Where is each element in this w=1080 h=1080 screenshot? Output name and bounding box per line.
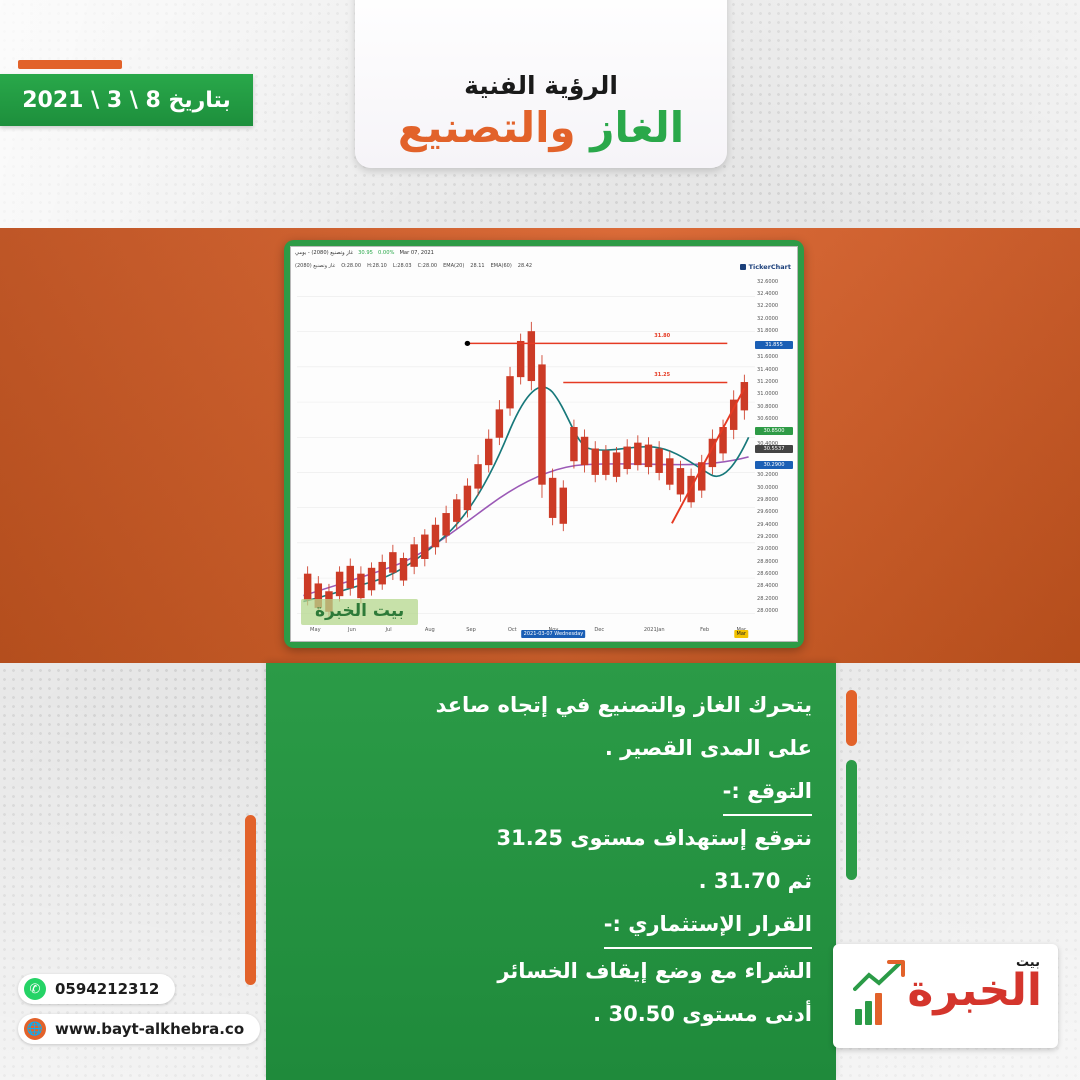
analysis-line-5: الشراء مع وضع إيقاف الخسائر bbox=[290, 951, 812, 992]
decor-bar-orange-left bbox=[245, 815, 256, 985]
chart-ema20-value: 28.11 bbox=[470, 263, 484, 269]
logo-wrap: بيت الخبرة bbox=[843, 953, 1048, 1039]
tickerchart-label: TickerChart bbox=[749, 263, 791, 271]
header-subtitle: الرؤية الفنية bbox=[464, 71, 618, 100]
analysis-line-6: أدنى مستوى 30.50 . bbox=[290, 994, 812, 1035]
y-tick: 32.6000 bbox=[757, 279, 778, 285]
analysis-label-decision: القرار الإستثماري :- bbox=[604, 904, 812, 949]
analysis-line-3: نتوقع إستهداف مستوى 31.25 bbox=[290, 818, 812, 859]
resistance-label-2: 31.25 bbox=[654, 372, 670, 378]
contact-block: ✆ 0594212312 🌐 www.bayt-alkhebra.co bbox=[18, 974, 260, 1044]
chart-change-pct: 0.00% bbox=[378, 250, 394, 256]
x-current-tag: Mar bbox=[735, 630, 748, 638]
chart-last-price: 30.95 bbox=[358, 250, 373, 256]
analysis-text: يتحرك الغاز والتصنيع في إتجاه صاعد على ا… bbox=[290, 685, 812, 1037]
decor-bar-green-right bbox=[846, 760, 857, 880]
y-tick: 29.4000 bbox=[757, 522, 778, 528]
x-tick: Feb bbox=[700, 627, 709, 633]
y-tick: 31.2000 bbox=[757, 379, 778, 385]
x-tick: Oct bbox=[508, 627, 517, 633]
analysis-line-2: على المدى القصير . bbox=[290, 728, 812, 769]
whatsapp-pill[interactable]: ✆ 0594212312 bbox=[18, 974, 175, 1004]
header-title: الغاز والتصنيع bbox=[398, 106, 684, 150]
y-tick: 29.0000 bbox=[757, 546, 778, 552]
website-url: www.bayt-alkhebra.co bbox=[55, 1020, 244, 1038]
poster-root: بتاريخ 8 \ 3 \ 2021 الرؤية الفنية الغاز … bbox=[0, 0, 1080, 1080]
chart-ema60-label: EMA(60) bbox=[491, 263, 512, 269]
website-pill[interactable]: 🌐 www.bayt-alkhebra.co bbox=[18, 1014, 260, 1044]
analysis-label-expectation: التوقع :- bbox=[723, 771, 812, 816]
chart-ema20-label: EMA(20) bbox=[443, 263, 464, 269]
x-tick: May bbox=[310, 627, 321, 633]
analysis-line-1: يتحرك الغاز والتصنيع في إتجاه صاعد bbox=[290, 685, 812, 726]
chart-header-line-2: غاز وتصنيع (2080) O:28.00 H:28.10 L:28.0… bbox=[291, 260, 797, 271]
x-tick: Jul bbox=[386, 627, 392, 633]
bar-chart-icon bbox=[855, 993, 882, 1025]
date-badge: بتاريخ 8 \ 3 \ 2021 bbox=[0, 74, 253, 126]
candlestick-svg bbox=[297, 273, 755, 625]
growth-arrow-icon bbox=[853, 959, 907, 993]
chart-plot-area: 31.80 31.25 bbox=[297, 273, 755, 625]
whatsapp-icon: ✆ bbox=[24, 978, 46, 1000]
y-tick: 30.2000 bbox=[757, 472, 778, 478]
chart-frame: غاز وتصنيع (2080) - يومي 30.95 0.00% Mar… bbox=[284, 240, 804, 648]
logo-main-word: الخبرة bbox=[907, 969, 1042, 1013]
header-card: الرؤية الفنية الغاز والتصنيع bbox=[355, 0, 727, 168]
analysis-line-4: ثم 31.70 . bbox=[290, 861, 812, 902]
chart-low: L:28.03 bbox=[393, 263, 412, 269]
y-tick: 28.2000 bbox=[757, 596, 778, 602]
y-tick: 30.8000 bbox=[757, 404, 778, 410]
chart-open: O:28.00 bbox=[341, 263, 361, 269]
chart-x-axis: May Jun Jul Aug Sep Oct Nov Dec 2021Jan … bbox=[297, 627, 755, 639]
chart-ema60-value: 28.42 bbox=[518, 263, 532, 269]
resistance-label-1: 31.80 bbox=[654, 333, 670, 339]
y-price-box-support: 30.2900 bbox=[755, 461, 793, 469]
x-tick: Aug bbox=[425, 627, 435, 633]
y-price-box-ema: 30.5537 bbox=[755, 445, 793, 453]
decor-bar-orange-right bbox=[846, 690, 857, 746]
y-tick: 28.0000 bbox=[757, 608, 778, 614]
x-tick: Jun bbox=[348, 627, 356, 633]
globe-icon: 🌐 bbox=[24, 1018, 46, 1040]
trendline-up bbox=[672, 388, 744, 523]
y-tick: 31.8000 bbox=[757, 328, 778, 334]
y-tick: 28.8000 bbox=[757, 559, 778, 565]
header-title-green: الغاز bbox=[590, 103, 684, 152]
x-tick: Dec bbox=[594, 627, 604, 633]
x-tick: Sep bbox=[466, 627, 476, 633]
header-title-orange: والتصنيع bbox=[398, 103, 576, 152]
chart-series-name: غاز وتصنيع (2080) bbox=[295, 263, 335, 269]
y-tick: 31.0000 bbox=[757, 391, 778, 397]
chart-canvas: غاز وتصنيع (2080) - يومي 30.95 0.00% Mar… bbox=[290, 246, 798, 642]
y-tick: 30.0000 bbox=[757, 485, 778, 491]
candles bbox=[304, 322, 747, 617]
y-tick: 32.2000 bbox=[757, 303, 778, 309]
y-tick: 31.4000 bbox=[757, 367, 778, 373]
tickerchart-logo: TickerChart bbox=[740, 263, 791, 271]
y-tick: 29.2000 bbox=[757, 534, 778, 540]
chart-symbol: غاز وتصنيع (2080) - يومي bbox=[295, 250, 353, 256]
logo-box: بيت الخبرة bbox=[833, 944, 1058, 1048]
phone-number: 0594212312 bbox=[55, 980, 159, 998]
y-tick: 32.0000 bbox=[757, 316, 778, 322]
resistance-anchor-dot bbox=[465, 341, 471, 346]
y-price-box-resistance: 31.855 bbox=[755, 341, 793, 349]
chart-header-line-1: غاز وتصنيع (2080) - يومي 30.95 0.00% Mar… bbox=[291, 247, 797, 259]
y-tick: 29.6000 bbox=[757, 509, 778, 515]
chart-date: Mar 07, 2021 bbox=[399, 250, 434, 256]
chart-high: H:28.10 bbox=[367, 263, 387, 269]
tickerchart-square-icon bbox=[740, 264, 746, 270]
x-crosshair-date-tag: 2021-03-07 Wednesday bbox=[522, 630, 586, 638]
x-tick: 2021Jan bbox=[644, 627, 665, 633]
analysis-panel: يتحرك الغاز والتصنيع في إتجاه صاعد على ا… bbox=[266, 663, 836, 1080]
y-price-box-last: 30.8500 bbox=[755, 427, 793, 435]
y-tick: 28.6000 bbox=[757, 571, 778, 577]
chart-close: C:28.00 bbox=[418, 263, 438, 269]
y-tick: 30.6000 bbox=[757, 416, 778, 422]
y-tick: 29.8000 bbox=[757, 497, 778, 503]
y-tick: 32.4000 bbox=[757, 291, 778, 297]
y-tick: 28.4000 bbox=[757, 583, 778, 589]
date-ribbon-accent bbox=[18, 60, 122, 69]
chart-y-axis: 32.6000 32.4000 32.2000 32.0000 31.8000 … bbox=[755, 273, 795, 625]
chart-watermark: بيت الخبرة bbox=[301, 599, 418, 625]
y-tick: 31.6000 bbox=[757, 354, 778, 360]
